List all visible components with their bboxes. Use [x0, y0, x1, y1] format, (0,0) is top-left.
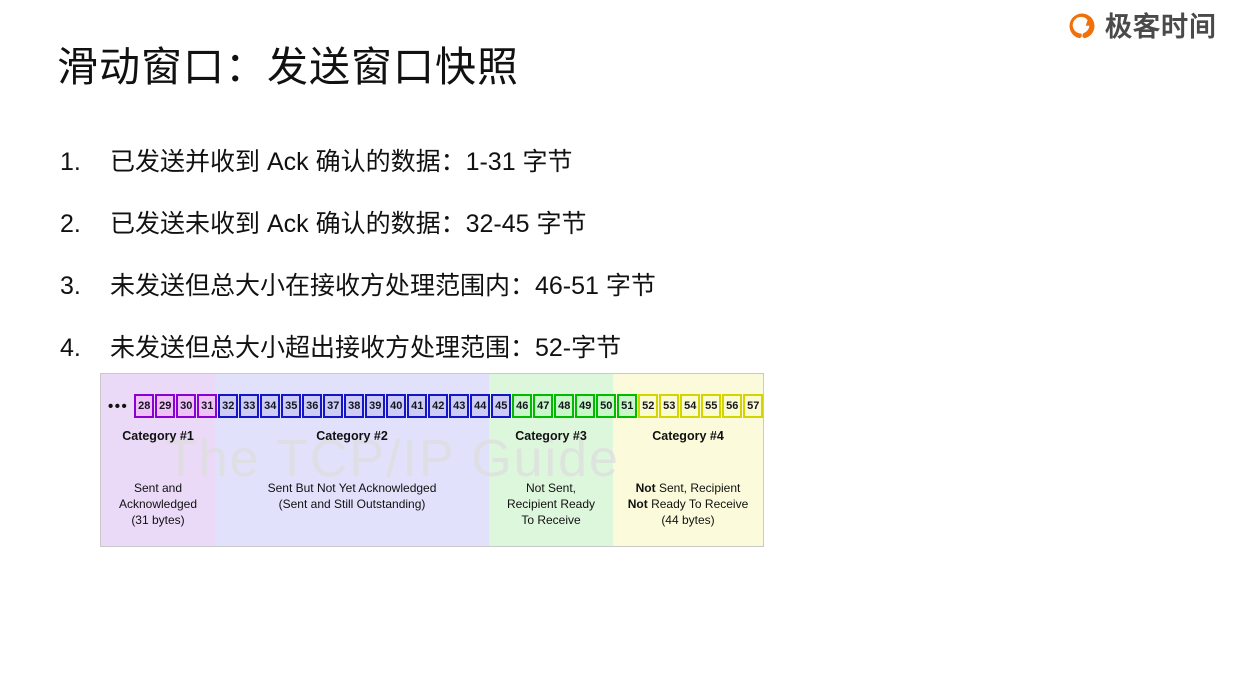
category-label-2: Category #2	[215, 430, 489, 450]
description-line: Recipient Ready	[493, 496, 609, 512]
description-line: (Sent and Still Outstanding)	[219, 496, 485, 512]
byte-cell: 49	[575, 394, 595, 418]
description-line: Not Sent, Recipient	[617, 480, 759, 496]
points-list: 1. 已发送并收到 Ack 确认的数据：1-31 字节 2. 已发送未收到 Ac…	[60, 142, 860, 390]
byte-cell: 46	[512, 394, 532, 418]
description-line: Sent But Not Yet Acknowledged	[219, 480, 485, 496]
byte-cell: 45	[491, 394, 511, 418]
category-description-1: Sent andAcknowledged(31 bytes)	[101, 480, 215, 529]
list-item-number: 2.	[60, 210, 110, 239]
list-item-text: 未发送但总大小超出接收方处理范围：52-字节	[110, 328, 621, 364]
byte-cell: 42	[428, 394, 448, 418]
byte-cell: 48	[554, 394, 574, 418]
byte-cell: 38	[344, 394, 364, 418]
description-line: To Receive	[493, 512, 609, 528]
byte-cell: 40	[386, 394, 406, 418]
list-item: 1. 已发送并收到 Ack 确认的数据：1-31 字节	[60, 142, 860, 204]
tcp-send-window-diagram: The TCP/IP Guide ••• 2829303132333435363…	[100, 373, 764, 547]
byte-cell: 54	[680, 394, 700, 418]
byte-cell: 29	[155, 394, 175, 418]
category-description-2: Sent But Not Yet Acknowledged(Sent and S…	[215, 480, 489, 529]
byte-cell: 36	[302, 394, 322, 418]
byte-cell: 35	[281, 394, 301, 418]
byte-cell: 30	[176, 394, 196, 418]
byte-cell: 55	[701, 394, 721, 418]
category-label-1: Category #1	[101, 430, 215, 450]
byte-cell: 39	[365, 394, 385, 418]
list-item-text: 已发送未收到 Ack 确认的数据：32-45 字节	[110, 204, 586, 240]
list-item-text: 已发送并收到 Ack 确认的数据：1-31 字节	[110, 142, 573, 178]
byte-cell: 57	[743, 394, 763, 418]
byte-cell: 28	[134, 394, 154, 418]
byte-cell: 50	[596, 394, 616, 418]
byte-cell: 44	[470, 394, 490, 418]
page-title: 滑动窗口：发送窗口快照	[57, 33, 519, 93]
category-description-4: Not Sent, RecipientNot Ready To Receive(…	[613, 480, 763, 529]
description-line: Not Ready To Receive	[617, 496, 759, 512]
byte-cell: 31	[197, 394, 217, 418]
byte-cells-row: ••• 282930313233343536373839404142434445…	[101, 392, 763, 420]
byte-cell: 52	[638, 394, 658, 418]
byte-cell: 53	[659, 394, 679, 418]
description-line: (31 bytes)	[105, 512, 211, 528]
ellipsis-left: •••	[104, 399, 132, 414]
byte-cell: 41	[407, 394, 427, 418]
description-line: Not Sent,	[493, 480, 609, 496]
category-description-3: Not Sent,Recipient ReadyTo Receive	[489, 480, 613, 529]
category-labels-row: Category #1 Category #2 Category #3 Cate…	[101, 430, 763, 450]
byte-cell: 43	[449, 394, 469, 418]
list-item-number: 4.	[60, 334, 110, 363]
category-label-4: Category #4	[613, 430, 763, 450]
list-item-text: 未发送但总大小在接收方处理范围内：46-51 字节	[110, 266, 656, 302]
byte-cell: 37	[323, 394, 343, 418]
category-label-3: Category #3	[489, 430, 613, 450]
brand-logo: 极客时间	[1067, 12, 1217, 42]
description-line: Acknowledged	[105, 496, 211, 512]
byte-cell: 51	[617, 394, 637, 418]
description-line: Sent and	[105, 480, 211, 496]
byte-cell: 34	[260, 394, 280, 418]
brand-name: 极客时间	[1105, 14, 1217, 41]
list-item-number: 3.	[60, 272, 110, 301]
description-line: (44 bytes)	[617, 512, 759, 528]
byte-cell: 32	[218, 394, 238, 418]
category-descriptions-row: Sent andAcknowledged(31 bytes) Sent But …	[101, 480, 763, 529]
list-item: 3. 未发送但总大小在接收方处理范围内：46-51 字节	[60, 266, 860, 328]
byte-cell: 47	[533, 394, 553, 418]
list-item-number: 1.	[60, 148, 110, 177]
byte-cell: 56	[722, 394, 742, 418]
geekbang-logo-icon	[1067, 12, 1097, 42]
list-item: 2. 已发送未收到 Ack 确认的数据：32-45 字节	[60, 204, 860, 266]
byte-cell: 33	[239, 394, 259, 418]
